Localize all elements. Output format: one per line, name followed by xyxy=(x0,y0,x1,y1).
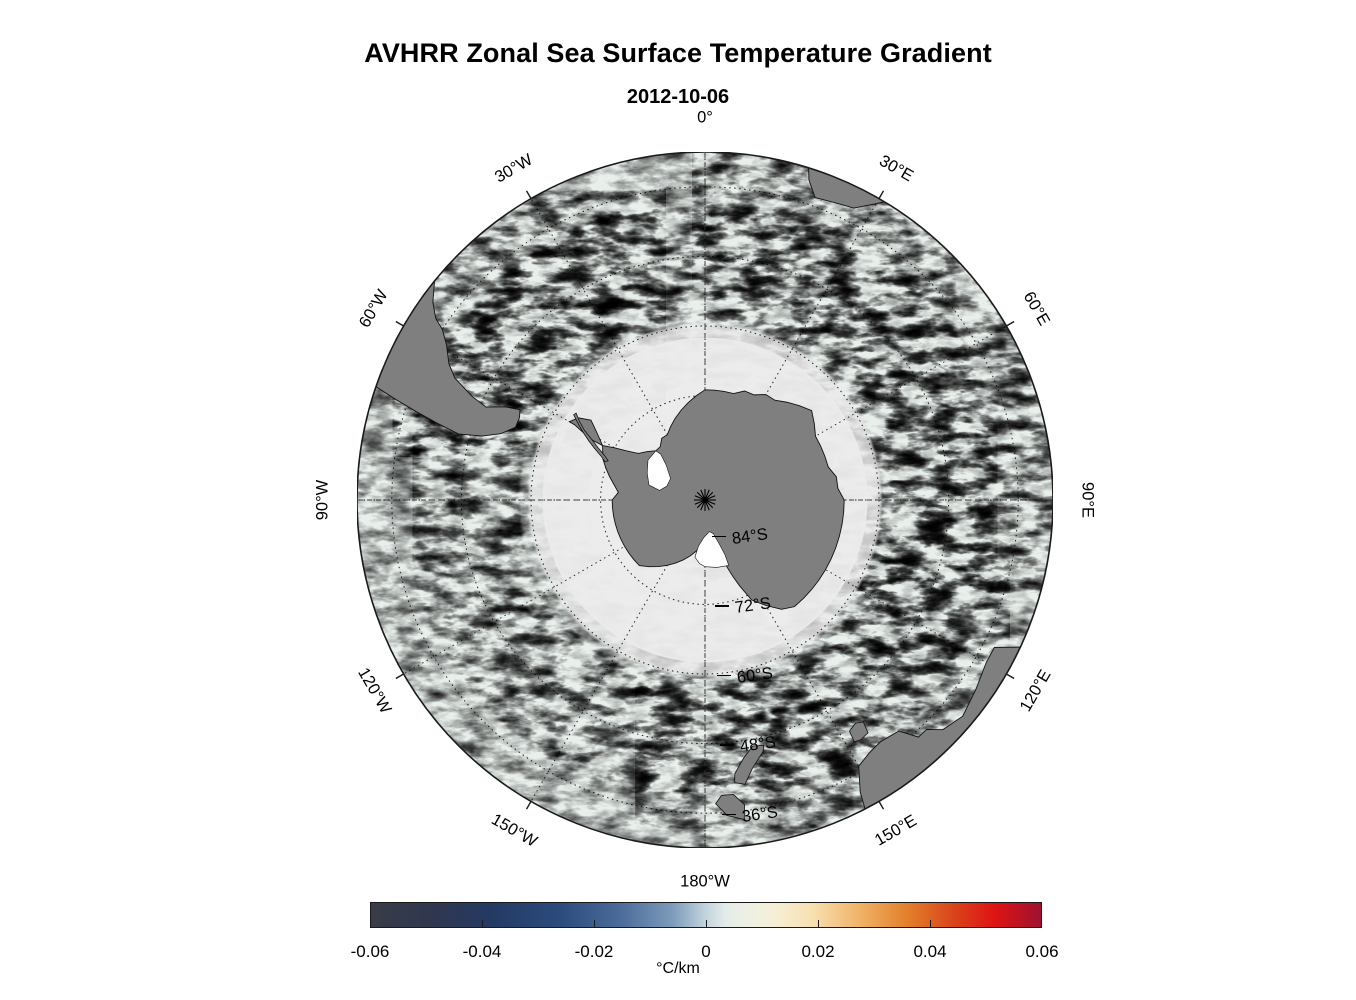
latitude-tick xyxy=(715,605,729,606)
colorbar-tick-label: -0.02 xyxy=(575,942,614,962)
colorbar-tick-label: 0.04 xyxy=(913,942,946,962)
longitude-label: 90°E xyxy=(1078,482,1097,518)
colorbar-tick-label: -0.06 xyxy=(351,942,390,962)
colorbar-tick xyxy=(482,920,483,928)
longitude-label: 0° xyxy=(697,109,713,128)
figure-canvas: AVHRR Zonal Sea Surface Temperature Grad… xyxy=(0,0,1356,1000)
colorbar-tick xyxy=(930,920,931,928)
colorbar-unit-label: °C/km xyxy=(0,960,1356,978)
longitude-label: 90°W xyxy=(314,480,333,521)
colorbar[interactable]: -0.06-0.04-0.0200.020.040.06 xyxy=(370,902,1042,964)
figure-subtitle: 2012-10-06 xyxy=(0,86,1356,109)
colorbar-tick-label: 0.06 xyxy=(1025,942,1058,962)
colorbar-tick xyxy=(706,920,707,928)
latitude-tick xyxy=(712,536,726,537)
colorbar-tick-label: -0.04 xyxy=(463,942,502,962)
colorbar-tick xyxy=(594,920,595,928)
latitude-tick xyxy=(717,675,731,676)
polar-map xyxy=(357,152,1053,848)
latitude-tick xyxy=(720,744,734,745)
latitude-tick xyxy=(722,814,736,815)
colorbar-tick-label: 0.02 xyxy=(801,942,834,962)
colorbar-tick-label: 0 xyxy=(701,942,710,962)
figure-title: AVHRR Zonal Sea Surface Temperature Grad… xyxy=(0,38,1356,69)
colorbar-ticks xyxy=(370,928,1042,938)
colorbar-tick xyxy=(818,920,819,928)
longitude-label: 180°W xyxy=(680,873,730,892)
polar-stereographic-plot xyxy=(357,152,1053,848)
